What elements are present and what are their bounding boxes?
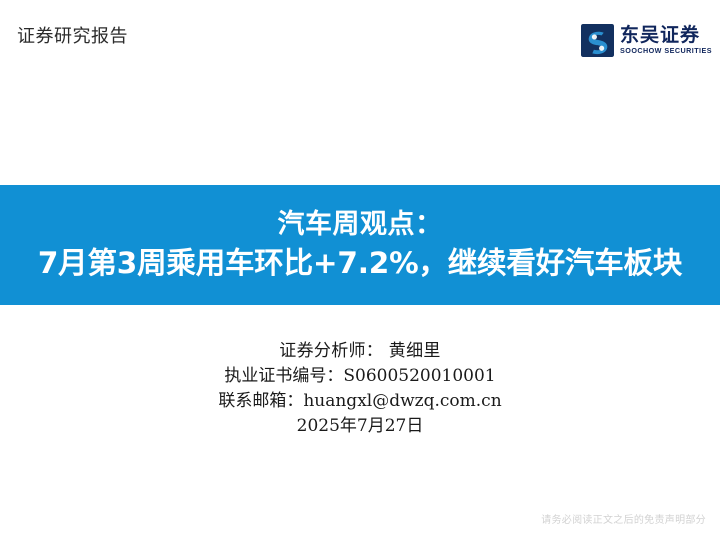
analyst-name-line: 证券分析师： 黄细里 — [0, 339, 720, 364]
title-line-1: 汽车周观点： — [278, 207, 443, 243]
author-info-block: 证券分析师： 黄细里 执业证书编号：S0600520010001 联系邮箱：hu… — [0, 339, 720, 439]
report-date-line: 2025年7月27日 — [0, 414, 720, 439]
license-number-line: 执业证书编号：S0600520010001 — [0, 364, 720, 389]
company-logo: 东吴证券 SOOCHOW SECURITIES — [581, 24, 712, 57]
title-line-2: 7月第3周乘用车环比+7.2%，继续看好汽车板块 — [38, 243, 682, 283]
logo-wordmark: 东吴证券 SOOCHOW SECURITIES — [620, 26, 712, 54]
logo-english-name: SOOCHOW SECURITIES — [620, 47, 712, 54]
disclaimer-footer: 请务必阅读正文之后的免责声明部分 — [541, 514, 706, 528]
report-cover-slide: 证券研究报告 东吴证券 SOOCHOW SECURITIES 汽车周观点： 7月… — [0, 0, 720, 540]
report-type-label: 证券研究报告 — [17, 26, 128, 48]
soochow-s-logo-icon — [581, 24, 614, 57]
contact-email-line: 联系邮箱：huangxl@dwzq.com.cn — [0, 389, 720, 414]
logo-chinese-name: 东吴证券 — [620, 26, 712, 45]
title-banner: 汽车周观点： 7月第3周乘用车环比+7.2%，继续看好汽车板块 — [0, 185, 720, 305]
